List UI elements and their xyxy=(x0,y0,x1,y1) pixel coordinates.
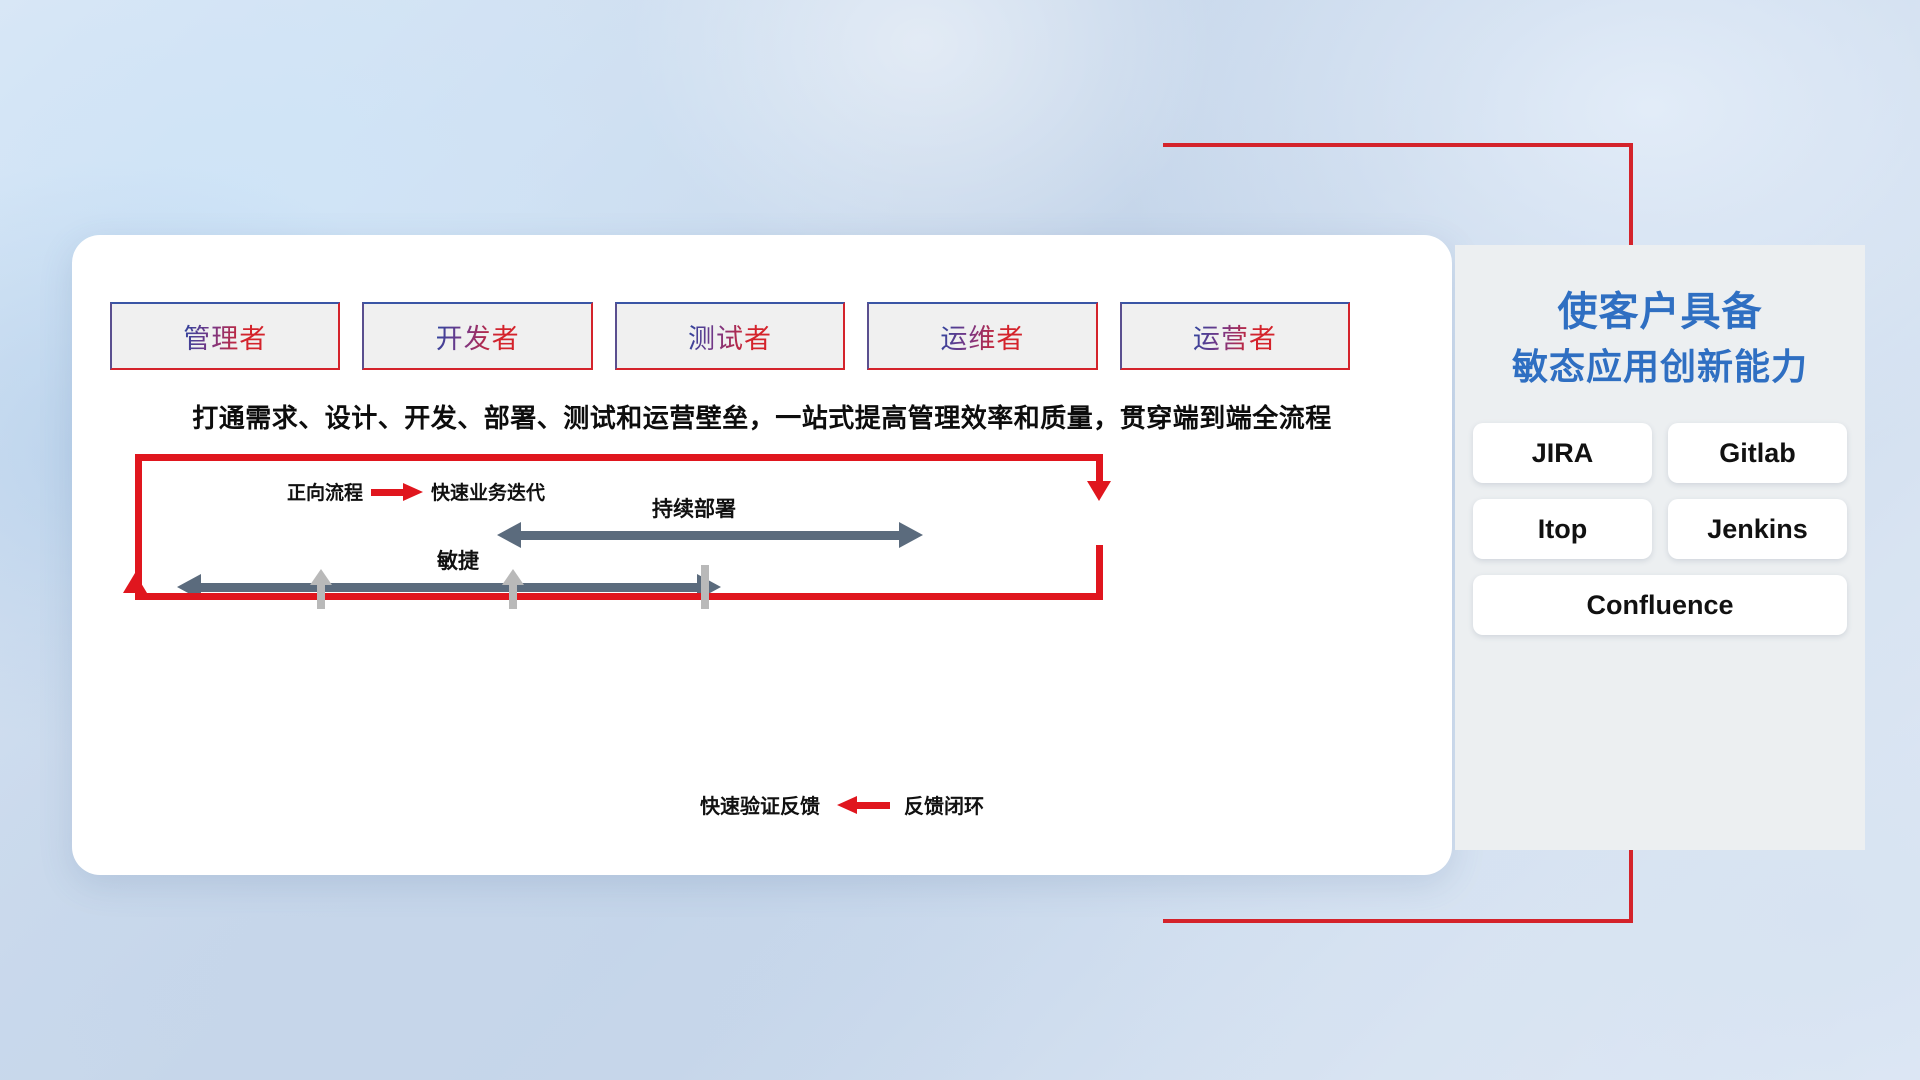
legend-forward-right-label: 快速业务迭代 xyxy=(431,478,545,505)
arrow-head-left-gray-icon xyxy=(497,522,521,548)
role-box-ops[interactable]: 运维者 xyxy=(867,302,1097,370)
panel-title-line2: 敏态应用创新能力 xyxy=(1455,341,1865,393)
tool-chip-confluence[interactable]: Confluence xyxy=(1473,575,1847,635)
role-label: 测试者 xyxy=(688,317,772,356)
legend-forward-left-label: 正向流程 xyxy=(287,478,363,505)
role-box-developer[interactable]: 开发者 xyxy=(362,302,592,370)
feeder-line-develop xyxy=(509,583,517,609)
arrow-head-up-red-icon xyxy=(123,573,147,593)
legend-feedback-loop: 快速验证反馈 反馈闭环 xyxy=(700,790,984,819)
role-box-operations[interactable]: 运营者 xyxy=(1120,302,1350,370)
role-box-row: 管理者 开发者 测试者 运维者 运营者 xyxy=(110,302,1350,370)
value-proposition-panel: 使客户具备 敏态应用创新能力 JIRA Gitlab Itop Jenkins … xyxy=(1455,245,1865,850)
legend-feedback-left-label: 快速验证反馈 xyxy=(700,790,820,819)
legend-feedback-right-label: 反馈闭环 xyxy=(904,790,984,819)
feeder-head-design-icon xyxy=(310,569,332,585)
arrow-head-down-red-icon xyxy=(1087,481,1111,501)
role-label: 开发者 xyxy=(436,317,520,356)
role-label: 运营者 xyxy=(1193,317,1277,356)
panel-title: 使客户具备 敏态应用创新能力 xyxy=(1455,245,1865,393)
arrow-right-red-icon xyxy=(371,483,423,501)
panel-title-line1: 使客户具备 xyxy=(1455,283,1865,341)
red-loop-top xyxy=(135,454,1103,461)
tool-chip-gitlab[interactable]: Gitlab xyxy=(1668,423,1847,483)
tool-chip-list: JIRA Gitlab Itop Jenkins Confluence xyxy=(1455,423,1865,635)
role-box-tester[interactable]: 测试者 xyxy=(615,302,845,370)
role-label: 管理者 xyxy=(183,317,267,356)
band-bar-agile xyxy=(201,583,697,592)
legend-forward-flow: 正向流程 快速业务迭代 xyxy=(287,478,545,505)
tool-chip-itop[interactable]: Itop xyxy=(1473,499,1652,559)
red-loop-right-up xyxy=(1096,545,1103,600)
feeder-line-test xyxy=(701,565,709,609)
feeder-head-develop-icon xyxy=(502,569,524,585)
band-label-continuous-deploy: 持续部署 xyxy=(652,493,736,523)
main-content-card: 管理者 开发者 测试者 运维者 运营者 打通需求、设计、开发、部署、测试和运营壁… xyxy=(72,235,1452,875)
arrow-left-red-icon xyxy=(834,796,890,814)
band-bar-continuous-deploy xyxy=(521,531,899,540)
feeder-line-design xyxy=(317,583,325,609)
role-label: 运维者 xyxy=(940,317,1024,356)
tool-chip-jenkins[interactable]: Jenkins xyxy=(1668,499,1847,559)
arrow-head-right-gray-icon xyxy=(899,522,923,548)
red-loop-bottom xyxy=(135,593,1103,600)
tool-chip-jira[interactable]: JIRA xyxy=(1473,423,1652,483)
role-box-manager[interactable]: 管理者 xyxy=(110,302,340,370)
description-text: 打通需求、设计、开发、部署、测试和运营壁垒，一站式提高管理效率和质量，贯穿端到端… xyxy=(72,398,1452,435)
band-label-agile: 敏捷 xyxy=(437,545,479,575)
